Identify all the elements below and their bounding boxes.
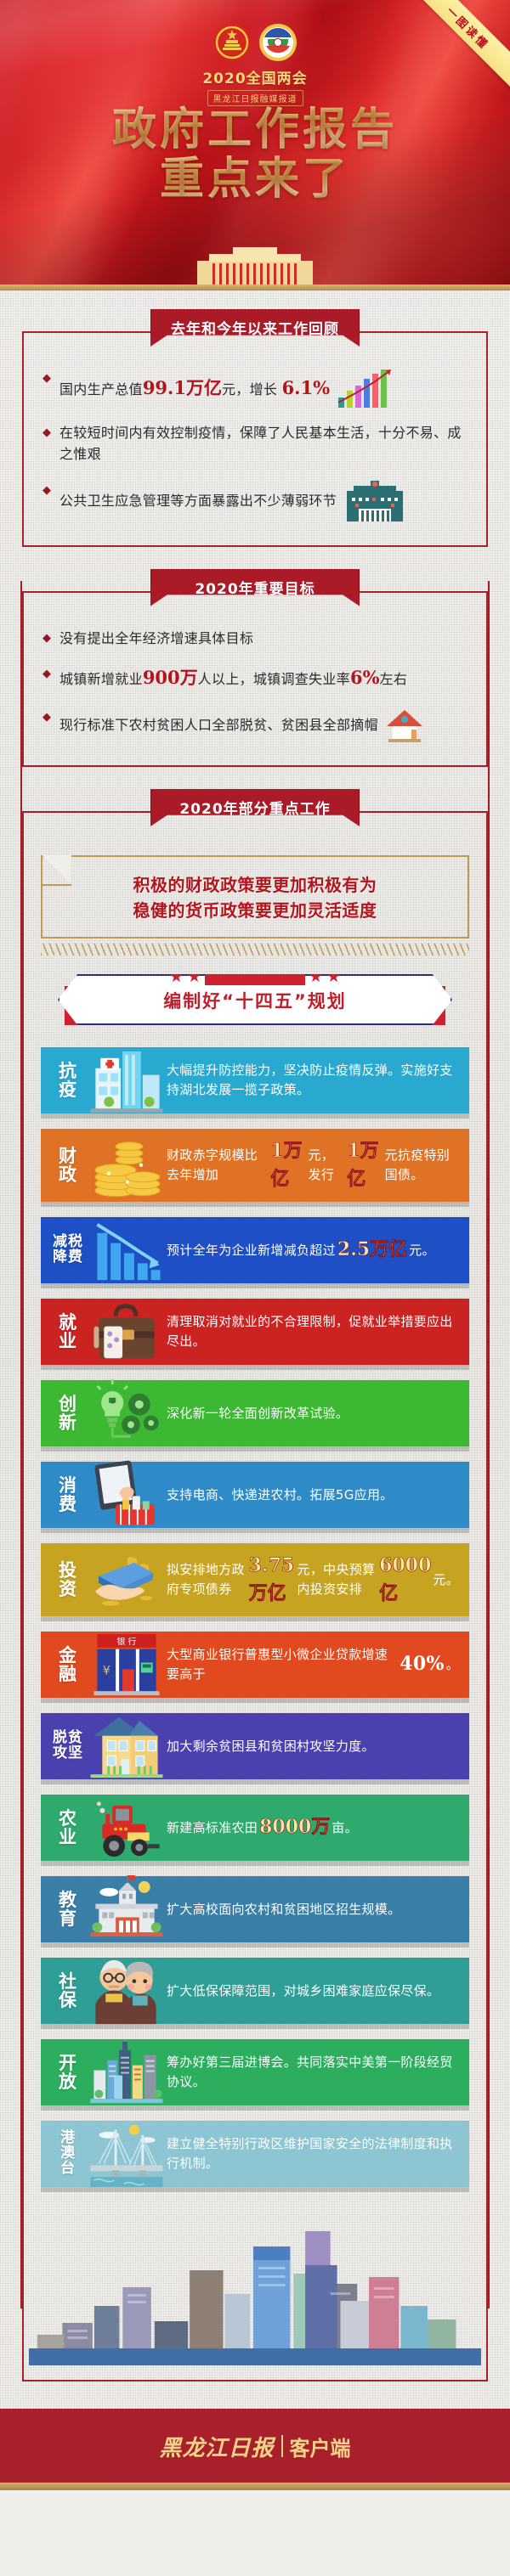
- quote-line-1: 积极的财政政策要更加积极有为: [54, 872, 456, 898]
- bar-chart-icon: [337, 369, 398, 408]
- quote-line-2: 稳健的货币政策要更加灵活适度: [54, 898, 456, 923]
- item-bar: 就业清理取消对就业的不合理限制，促就业举措要应出尽出。: [41, 1299, 469, 1365]
- item-bar: 金融银 行¥大型商业银行普惠型小微企业贷款增速要高于40%。: [41, 1632, 469, 1698]
- item-bar: 财政财政赤字规模比去年增加1万亿元，发行1万亿元抗疫特别国债。: [41, 1129, 469, 1202]
- item-category-label: 消费: [41, 1462, 90, 1528]
- item-category-label: 港澳台: [41, 2121, 90, 2187]
- section-body: ◆ 没有提出全年经济增速具体目标 ◆ 城镇新增就业900万人以上，城镇调查失业率…: [22, 591, 488, 767]
- item-category-label: 减税降费: [41, 1217, 90, 1283]
- item-bar: 抗疫大幅提升防控能力，坚决防止疫情反弹。实施好支持湖北发展一揽子政策。: [41, 1047, 469, 1113]
- hospital-icon: [343, 481, 406, 523]
- key-work-item: 港澳台建立健全特别行政区维护国家安全的法律制度和执行机制。: [41, 2121, 469, 2187]
- bullet-item: ◆ 在较短时间内有效控制疫情，保障了人民基本生活，十分不易、成之惟艰: [41, 423, 469, 465]
- key-work-item: 减税降费预计全年为企业新增减负超过2.5万亿元。: [41, 1217, 469, 1283]
- app-name: 客户端: [290, 2432, 351, 2461]
- declining-bars-icon: [90, 1217, 163, 1283]
- star-icon: ★: [309, 967, 323, 987]
- star-icon: ★: [169, 967, 184, 987]
- publisher-logo: 黑龙江日报 客户端: [159, 2431, 350, 2462]
- diamond-bullet-icon: ◆: [42, 371, 51, 385]
- bank-icon: 银 行¥: [90, 1632, 163, 1698]
- item-description: 新建高标准农田8000万亩。: [163, 1795, 469, 1861]
- star-icon: ★: [326, 967, 341, 987]
- bullet-item: ◆ 现行标准下农村贫困人口全部脱贫、贫困县全部摘帽: [41, 707, 469, 743]
- lightbulb-gears-icon: [90, 1380, 163, 1446]
- hospital-building-icon: [90, 1047, 163, 1113]
- key-work-item: 金融银 行¥大型商业银行普惠型小微企业贷款增速要高于40%。: [41, 1632, 469, 1698]
- hand-money-icon: [90, 1543, 163, 1616]
- item-description: 大型商业银行普惠型小微企业贷款增速要高于40%。: [163, 1632, 469, 1698]
- footer-bar: 黑龙江日报 客户端: [0, 2409, 510, 2483]
- key-work-item: 创新深化新一轮全面创新改革试验。: [41, 1380, 469, 1446]
- key-work-item: 教育扩大高校面向农村和贫困地区招生规模。: [41, 1876, 469, 1942]
- item-description: 筹办好第三届进博会。共同落实中美第一阶段经贸协议。: [163, 2039, 469, 2105]
- bullet-text: 国内生产总值99.1万亿元，增长 6.1%: [59, 375, 330, 403]
- item-description: 深化新一轮全面创新改革试验。: [163, 1380, 469, 1446]
- key-work-item: 消费支持电商、快递进农村。拓展5G应用。: [41, 1462, 469, 1528]
- publisher-name: 黑龙江日报: [159, 2431, 274, 2462]
- item-bar: 减税降费预计全年为企业新增减负超过2.5万亿元。: [41, 1217, 469, 1283]
- meeting-title: 2020全国两会: [0, 66, 510, 87]
- content-body: 去年和今年以来工作回顾 ◆ 国内生产总值99.1万亿元，增长 6.1%: [0, 290, 510, 2409]
- section-review: 去年和今年以来工作回顾 ◆ 国内生产总值99.1万亿元，增长 6.1%: [22, 309, 488, 547]
- item-category-label: 开放: [41, 2039, 90, 2105]
- item-category-label: 抗疫: [41, 1047, 90, 1113]
- item-description: 扩大低保保障范围，对城乡困难家庭应保尽保。: [163, 1958, 469, 2024]
- key-work-item: 财政财政赤字规模比去年增加1万亿元，发行1万亿元抗疫特别国债。: [41, 1129, 469, 1202]
- bullet-item: ◆ 公共卫生应急管理等方面暴露出不少薄弱环节: [41, 481, 469, 523]
- bridge-icon: [90, 2121, 163, 2187]
- footer-gold-divider: [0, 2483, 510, 2490]
- item-description: 支持电商、快递进农村。拓展5G应用。: [163, 1462, 469, 1528]
- plan-banner-text: 编制好“十四五”规划: [59, 988, 450, 1013]
- plan-banner: ★ ★ ★ ★ ★ 编制好“十四五”规划: [58, 974, 452, 1025]
- item-bar: 港澳台建立健全特别行政区维护国家安全的法律制度和执行机制。: [41, 2121, 469, 2187]
- key-work-item: 就业清理取消对就业的不合理限制，促就业举措要应出尽出。: [41, 1299, 469, 1365]
- item-category-label: 教育: [41, 1876, 90, 1942]
- item-category-label: 金融: [41, 1632, 90, 1698]
- page-title-line2: 重点来了: [0, 155, 510, 204]
- logo-divider: [281, 2435, 283, 2457]
- diamond-bullet-icon: ◆: [42, 667, 51, 680]
- key-work-item: 脱贫攻坚加大剩余贫困县和贫困村攻坚力度。: [41, 1713, 469, 1779]
- section-body: 积极的财政政策要更加积极有为 稳健的货币政策要更加灵活适度 ★ ★ ★: [22, 811, 488, 2382]
- item-bar: 脱贫攻坚加大剩余贫困县和贫困村攻坚力度。: [41, 1713, 469, 1779]
- cppcc-emblem-icon: [258, 22, 298, 63]
- diamond-bullet-icon: ◆: [42, 426, 51, 439]
- item-category-label: 投资: [41, 1543, 90, 1616]
- key-work-item-list: 抗疫大幅提升防控能力，坚决防止疫情反弹。实施好支持湖北发展一揽子政策。财政财政赤…: [29, 1047, 481, 2214]
- item-bar: 创新深化新一轮全面创新改革试验。: [41, 1380, 469, 1446]
- item-description: 大幅提升防控能力，坚决防止疫情反弹。实施好支持湖北发展一揽子政策。: [163, 1047, 469, 1113]
- star-icon: ★: [187, 967, 201, 987]
- item-category-label: 社保: [41, 1958, 90, 2024]
- item-description: 预计全年为企业新增减负超过2.5万亿元。: [163, 1217, 469, 1283]
- policy-quote-card: 积极的财政政策要更加积极有为 稳健的货币政策要更加灵活适度: [41, 855, 469, 939]
- plan-banner-tab: [205, 967, 305, 985]
- bullet-item: ◆ 没有提出全年经济增速具体目标: [41, 628, 469, 650]
- tablet-basket-icon: [90, 1462, 163, 1528]
- emblem-group: 2020全国两会 黑龙江日报融媒报道: [0, 22, 510, 106]
- item-category-label: 创新: [41, 1380, 90, 1446]
- city-skyline-illustration: [29, 2214, 481, 2370]
- bullet-text: 没有提出全年经济增速具体目标: [59, 628, 253, 650]
- item-description: 扩大高校面向农村和贫困地区招生规模。: [163, 1876, 469, 1942]
- elderly-couple-icon: [90, 1958, 163, 2024]
- item-category-label: 脱贫攻坚: [41, 1713, 90, 1779]
- item-description: 财政赤字规模比去年增加1万亿元，发行1万亿元抗疫特别国债。: [163, 1129, 469, 1202]
- plan-banner-body: ★ ★ ★ ★ ★ 编制好“十四五”规划: [58, 974, 452, 1025]
- bullet-item: ◆ 城镇新增就业900万人以上，城镇调查失业率6%左右: [41, 664, 469, 692]
- item-description: 建立健全特别行政区维护国家安全的法律制度和执行机制。: [163, 2121, 469, 2187]
- item-category-label: 财政: [41, 1129, 90, 1202]
- item-bar: 开放筹办好第三届进博会。共同落实中美第一阶段经贸协议。: [41, 2039, 469, 2105]
- section-key-work: 2020年部分重点工作 积极的财政政策要更加积极有为 稳健的货币政策要更加灵活适…: [22, 789, 488, 2382]
- item-bar: 消费支持电商、快递进农村。拓展5G应用。: [41, 1462, 469, 1528]
- item-bar: 社保扩大低保保障范围，对城乡困难家庭应保尽保。: [41, 1958, 469, 2024]
- diamond-bullet-icon: ◆: [42, 631, 51, 645]
- key-work-item: 开放筹办好第三届进博会。共同落实中美第一阶段经贸协议。: [41, 2039, 469, 2105]
- key-work-item: 抗疫大幅提升防控能力，坚决防止疫情反弹。实施好支持湖北发展一揽子政策。: [41, 1047, 469, 1113]
- bullet-text: 在较短时间内有效控制疫情，保障了人民基本生活，十分不易、成之惟艰: [59, 423, 469, 465]
- sections-wrapper: 去年和今年以来工作回顾 ◆ 国内生产总值99.1万亿元，增长 6.1%: [0, 290, 510, 2382]
- bullet-text: 公共卫生应急管理等方面暴露出不少薄弱环节: [59, 491, 337, 512]
- item-category-label: 农业: [41, 1795, 90, 1861]
- school-icon: [90, 1876, 163, 1942]
- tractor-icon: [90, 1795, 163, 1861]
- key-work-item: 社保扩大低保保障范围，对城乡困难家庭应保尽保。: [41, 1958, 469, 2024]
- diamond-bullet-icon: ◆: [42, 710, 51, 724]
- great-hall-icon: [0, 235, 510, 285]
- svg-text:银 行: 银 行: [117, 1636, 137, 1647]
- city-skyline-icon: [90, 2039, 163, 2105]
- house-icon: [385, 707, 424, 743]
- item-bar: 教育扩大高校面向农村和贫困地区招生规模。: [41, 1876, 469, 1942]
- gold-coins-icon: [90, 1129, 163, 1202]
- page-title-line1: 政府工作报告: [0, 105, 510, 155]
- bullet-text: 现行标准下农村贫困人口全部脱贫、贫困县全部摘帽: [59, 715, 378, 736]
- section-goals: 2020年重要目标 ◆ 没有提出全年经济增速具体目标 ◆ 城镇新增就业900万人…: [22, 569, 488, 767]
- item-bar: 投资拟安排地方政府专项债券3.75万亿元，中央预算内投资安排6000亿元。: [41, 1543, 469, 1616]
- section-body: ◆ 国内生产总值99.1万亿元，增长 6.1%: [22, 331, 488, 547]
- diamond-bullet-icon: ◆: [42, 483, 51, 497]
- key-work-item: 农业新建高标准农田8000万亩。: [41, 1795, 469, 1861]
- item-category-label: 就业: [41, 1299, 90, 1365]
- item-description: 拟安排地方政府专项债券3.75万亿元，中央预算内投资安排6000亿元。: [163, 1543, 469, 1616]
- svg-text:¥: ¥: [103, 1664, 110, 1677]
- hero-banner: 一图读懂 2: [0, 0, 510, 285]
- item-description: 清理取消对就业的不合理限制，促就业举措要应出尽出。: [163, 1299, 469, 1365]
- key-work-item: 投资拟安排地方政府专项债券3.75万亿元，中央预算内投资安排6000亿元。: [41, 1543, 469, 1616]
- item-description: 加大剩余贫困县和贫困村攻坚力度。: [163, 1713, 469, 1779]
- gold-divider: [0, 285, 510, 290]
- bullet-item: ◆ 国内生产总值99.1万亿元，增长 6.1%: [41, 369, 469, 408]
- national-emblem-icon: [212, 22, 252, 63]
- page-title: 政府工作报告 重点来了: [0, 105, 510, 204]
- briefcase-icon: [90, 1299, 163, 1365]
- bullet-text: 城镇新增就业900万人以上，城镇调查失业率6%左右: [59, 664, 407, 692]
- infographic-page: 一图读懂 2: [0, 0, 510, 2490]
- village-house-icon: [90, 1713, 163, 1779]
- hatch-divider: [41, 944, 469, 955]
- item-bar: 农业新建高标准农田8000万亩。: [41, 1795, 469, 1861]
